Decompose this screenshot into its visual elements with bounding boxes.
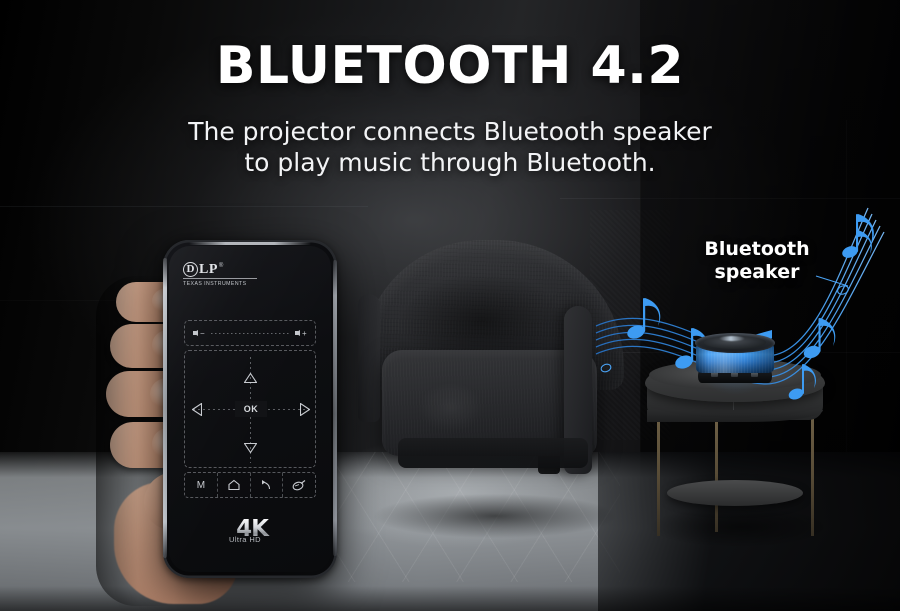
subtitle-line-2: to play music through Bluetooth.: [0, 147, 900, 178]
page-title: BLUETOOTH 4.2: [0, 36, 900, 96]
speaker-top-highlight: [719, 336, 745, 341]
speaker-label-line-1: Bluetooth: [692, 238, 822, 261]
armchair-left-arm: [358, 294, 380, 422]
page-subtitle: The projector connects Bluetooth speaker…: [0, 116, 900, 178]
bluetooth-speaker-device: [695, 333, 775, 385]
promo-stage: D LP ® TEXAS INSTRUMENTS −: [0, 0, 900, 611]
device-right-edge-highlight: [333, 260, 337, 556]
device-left-edge-highlight: [163, 258, 167, 558]
device-top-edge-highlight: [189, 242, 311, 245]
speaker-label-line-2: speaker: [692, 261, 822, 284]
subtitle-line-1: The projector connects Bluetooth speaker: [0, 116, 900, 147]
wall-seam-line: [0, 206, 368, 207]
device-bezel: [163, 240, 337, 578]
armchair-base: [398, 438, 588, 468]
speaker-top-rim: [695, 333, 775, 353]
mini-projector-device[interactable]: D LP ® TEXAS INSTRUMENTS −: [163, 240, 337, 578]
speaker-callout-label: Bluetooth speaker: [692, 238, 822, 284]
